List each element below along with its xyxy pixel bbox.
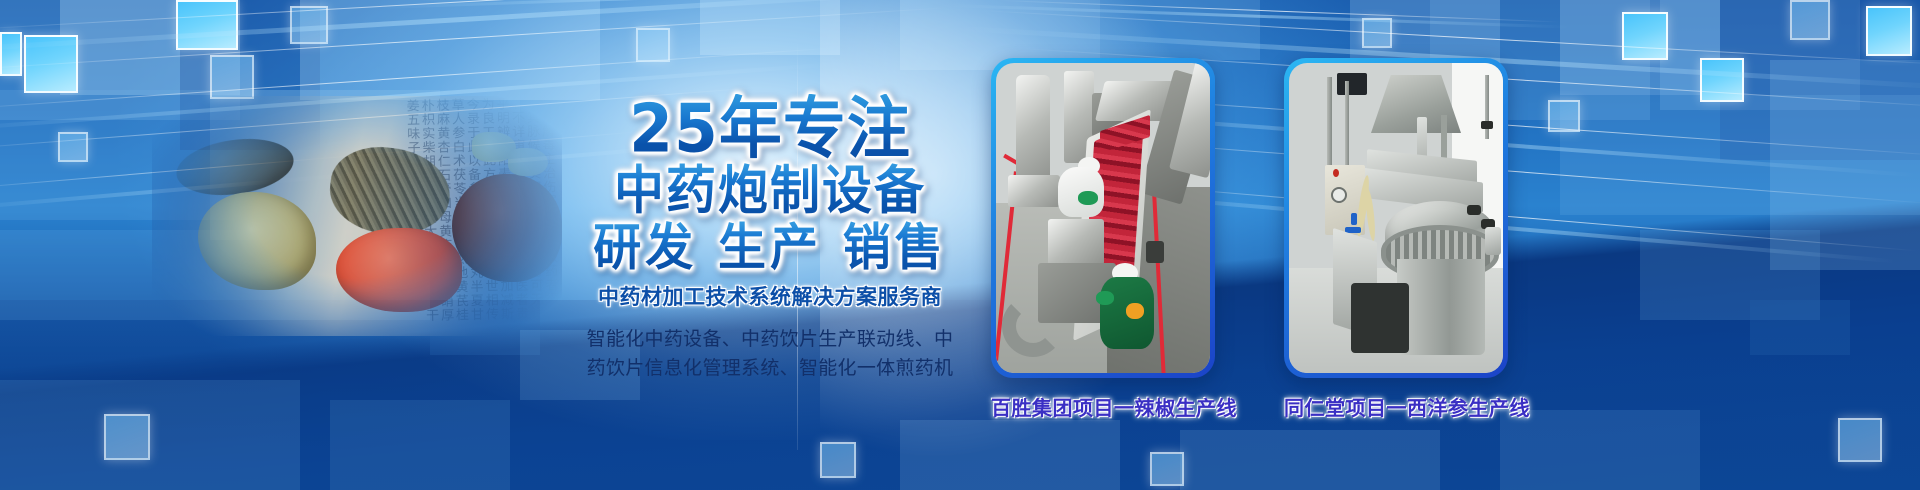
headline-line-2: 中药炮制设备 — [560, 161, 980, 221]
cabinet-switch — [1333, 169, 1339, 177]
headline-line-3: 研发 生产 销售 — [560, 219, 980, 277]
ginseng-production-photo — [1289, 63, 1503, 373]
tank-valve-1 — [1467, 205, 1481, 215]
promotional-banner: 清热解毒主治伤寒诸症凡服药者须先察其脉候虚实寒热而后用之方可无误若不详审轻用峻剂… — [0, 0, 1920, 490]
card-caption-ginseng: 同仁堂项目一西洋参生产线 — [1284, 392, 1508, 421]
tank-body — [1397, 259, 1485, 355]
large-steel-pipe — [1002, 295, 1064, 357]
headline-line-1: 25年专注 — [560, 94, 980, 164]
vertical-column — [1016, 75, 1050, 183]
under-shadow — [1351, 283, 1409, 353]
bin — [1146, 241, 1164, 263]
herb-collage-image: 清热解毒主治伤寒诸症凡服药者须先察其脉候虚实寒热而后用之方可无误若不详审轻用峻剂… — [152, 96, 562, 336]
herb-blue-tint — [152, 96, 562, 336]
worker-lower-glove — [1096, 291, 1114, 305]
project-card-ginseng[interactable]: 同仁堂项目一西洋参生产线 — [1284, 58, 1508, 378]
headline-subtitle: 中药材加工技术系统解决方案服务商 — [560, 281, 980, 311]
vertical-pipe-right — [1485, 75, 1489, 139]
pipe-valve-right — [1481, 121, 1493, 129]
headline-block: 25年专注 中药炮制设备 研发 生产 销售 中药材加工技术系统解决方案服务商 智… — [560, 96, 980, 383]
headline-description: 智能化中药设备、中药饮片生产联动线、中 药饮片信息化管理系统、智能化一体煎药机 — [560, 325, 980, 383]
worker-lower-helmet — [1126, 303, 1144, 319]
description-line-1: 智能化中药设备、中药饮片生产联动线、中 — [560, 325, 980, 354]
machine-box — [1048, 219, 1104, 265]
pressure-gauge — [1331, 187, 1347, 203]
blue-fitting — [1351, 213, 1357, 225]
wall-control-panel — [1337, 73, 1367, 95]
project-card-chili[interactable]: 百胜集团项目一辣椒生产线 — [991, 58, 1215, 378]
chili-production-photo — [996, 63, 1210, 373]
worker-upper-glove — [1078, 191, 1098, 205]
description-line-2: 药饮片信息化管理系统、智能化一体煎药机 — [560, 354, 980, 383]
card-caption-chili: 百胜集团项目一辣椒生产线 — [991, 392, 1215, 421]
column-base — [1008, 175, 1060, 207]
side-cylinder — [1485, 227, 1501, 255]
extraction-hood — [1371, 75, 1461, 133]
